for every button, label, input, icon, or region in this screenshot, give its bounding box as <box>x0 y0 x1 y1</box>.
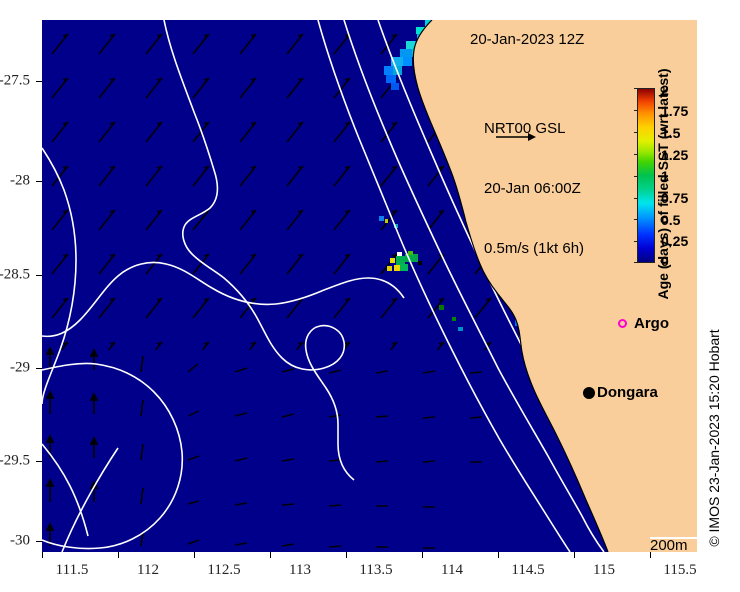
colorbar-tick <box>634 110 638 111</box>
x-tick-label: 111.5 <box>56 562 89 579</box>
depth-contour-legend: 200m 1000m <box>650 498 696 552</box>
colorbar-gradient <box>637 88 655 263</box>
reference-arrow-icon <box>494 130 540 144</box>
x-tick <box>498 552 499 558</box>
x-tick <box>194 552 195 558</box>
y-tick-label: -30 <box>0 533 30 550</box>
depth-legend-rule <box>650 537 697 539</box>
x-tick-label: 112.5 <box>207 562 240 579</box>
x-tick <box>574 552 575 558</box>
map-plot-area[interactable]: 20-Jan-2023 12Z NRT00 GSL 20-Jan 06:00Z … <box>42 20 697 552</box>
x-tick <box>650 552 651 558</box>
figure-canvas: 20-Jan-2023 12Z NRT00 GSL 20-Jan 06:00Z … <box>0 0 740 592</box>
model-time: 20-Jan 06:00Z <box>484 179 584 199</box>
vector-scale-label: 0.5m/s (1kt 6h) <box>484 239 584 259</box>
y-tick <box>36 181 42 182</box>
argo-marker-icon[interactable] <box>618 319 627 328</box>
x-tick <box>118 552 119 558</box>
x-tick <box>270 552 271 558</box>
x-tick-label: 113 <box>289 562 311 579</box>
x-tick-label: 114 <box>441 562 463 579</box>
map-title-date: 20-Jan-2023 12Z <box>470 31 584 48</box>
y-tick-label: -28 <box>0 173 30 190</box>
colorbar-tick <box>634 176 638 177</box>
x-tick <box>42 552 43 558</box>
y-tick <box>36 275 42 276</box>
y-tick-label: -27.5 <box>0 73 30 90</box>
y-tick-label: -29 <box>0 360 30 377</box>
x-tick <box>422 552 423 558</box>
y-tick <box>36 461 42 462</box>
colorbar-title: Age (days) of filled SST (wrt latest) <box>655 68 671 299</box>
dongara-marker-icon[interactable] <box>583 387 595 399</box>
colorbar-tick <box>634 132 638 133</box>
y-tick <box>36 81 42 82</box>
argo-label: Argo <box>634 315 669 332</box>
copyright-notice: © IMOS 23-Jan-2023 15:20 Hobart <box>706 329 722 546</box>
colorbar-tick <box>634 88 638 89</box>
colorbar-tick <box>634 262 638 263</box>
y-tick <box>36 368 42 369</box>
x-tick-label: 114.5 <box>511 562 544 579</box>
y-tick-label: -29.5 <box>0 453 30 470</box>
y-tick <box>36 541 42 542</box>
colorbar-tick <box>634 219 638 220</box>
colorbar-tick <box>634 241 638 242</box>
dongara-label: Dongara <box>597 384 658 401</box>
colorbar-tick <box>634 198 638 199</box>
model-info-block: NRT00 GSL 20-Jan 06:00Z 0.5m/s (1kt 6h) <box>484 79 584 299</box>
colorbar-tick <box>634 154 638 155</box>
colorbar[interactable]: 2 1.75 1.5 1.25 1 0.75 0.5 0.25 0 <box>637 88 655 263</box>
x-tick-label: 115 <box>593 562 615 579</box>
x-tick-label: 115.5 <box>663 562 696 579</box>
map-graphic <box>42 20 697 552</box>
x-tick-label: 113.5 <box>359 562 392 579</box>
x-tick <box>346 552 347 558</box>
y-tick-label: -28.5 <box>0 267 30 284</box>
x-tick-label: 112 <box>137 562 159 579</box>
